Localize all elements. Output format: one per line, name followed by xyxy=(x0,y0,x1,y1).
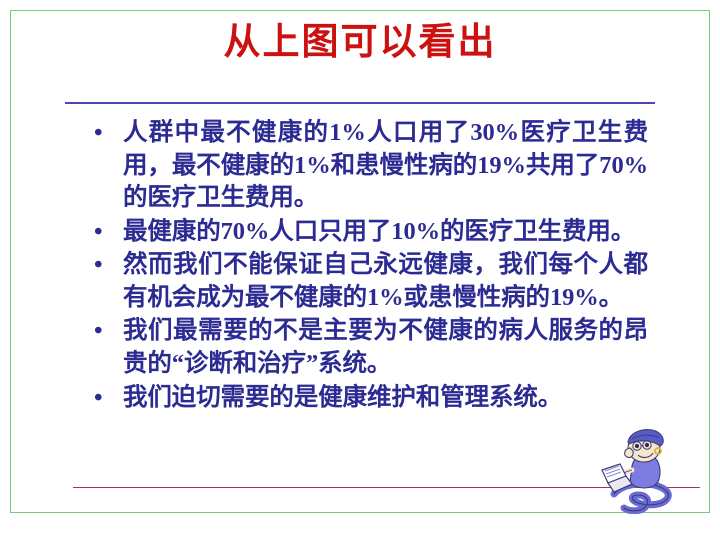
presentation-slide: 从上图可以看出 • 人群中最不健康的1%人口用了30%医疗卫生费用，最不健康的1… xyxy=(0,0,720,540)
bullet-text: 最健康的70%人口只用了10%的医疗卫生费用。 xyxy=(123,218,635,245)
bullet-marker-icon: • xyxy=(94,249,114,282)
bullet-item: • 然而我们不能保证自己永远健康，我们每个人都有机会成为最不健康的1%或患慢性病… xyxy=(88,249,648,314)
bullet-item: • 我们最需要的不是主要为不健康的病人服务的昂贵的“诊断和治疗”系统。 xyxy=(88,315,648,380)
bullet-text: 我们最需要的不是主要为不健康的病人服务的昂贵的“诊断和治疗”系统。 xyxy=(123,317,648,377)
bullet-marker-icon: • xyxy=(94,117,114,150)
bullet-marker-icon: • xyxy=(94,382,114,415)
bullet-marker-icon: • xyxy=(94,315,114,348)
title-divider-rule xyxy=(65,102,655,104)
bullet-marker-icon: • xyxy=(94,216,114,249)
bullet-text: 然而我们不能保证自己永远健康，我们每个人都有机会成为最不健康的1%或患慢性病的1… xyxy=(123,251,648,311)
bullet-item: • 人群中最不健康的1%人口用了30%医疗卫生费用，最不健康的1%和患慢性病的1… xyxy=(88,117,648,215)
bullet-item: • 我们迫切需要的是健康维护和管理系统。 xyxy=(88,382,648,415)
bullet-item: • 最健康的70%人口只用了10%的医疗卫生费用。 xyxy=(88,216,648,249)
slide-title: 从上图可以看出 xyxy=(0,22,720,65)
genie-with-laptop-clipart xyxy=(596,422,688,514)
bullet-text: 我们迫切需要的是健康维护和管理系统。 xyxy=(123,384,562,411)
bullet-text: 人群中最不健康的1%人口用了30%医疗卫生费用，最不健康的1%和患慢性病的19%… xyxy=(123,119,648,211)
bullet-list: • 人群中最不健康的1%人口用了30%医疗卫生费用，最不健康的1%和患慢性病的1… xyxy=(88,117,648,415)
